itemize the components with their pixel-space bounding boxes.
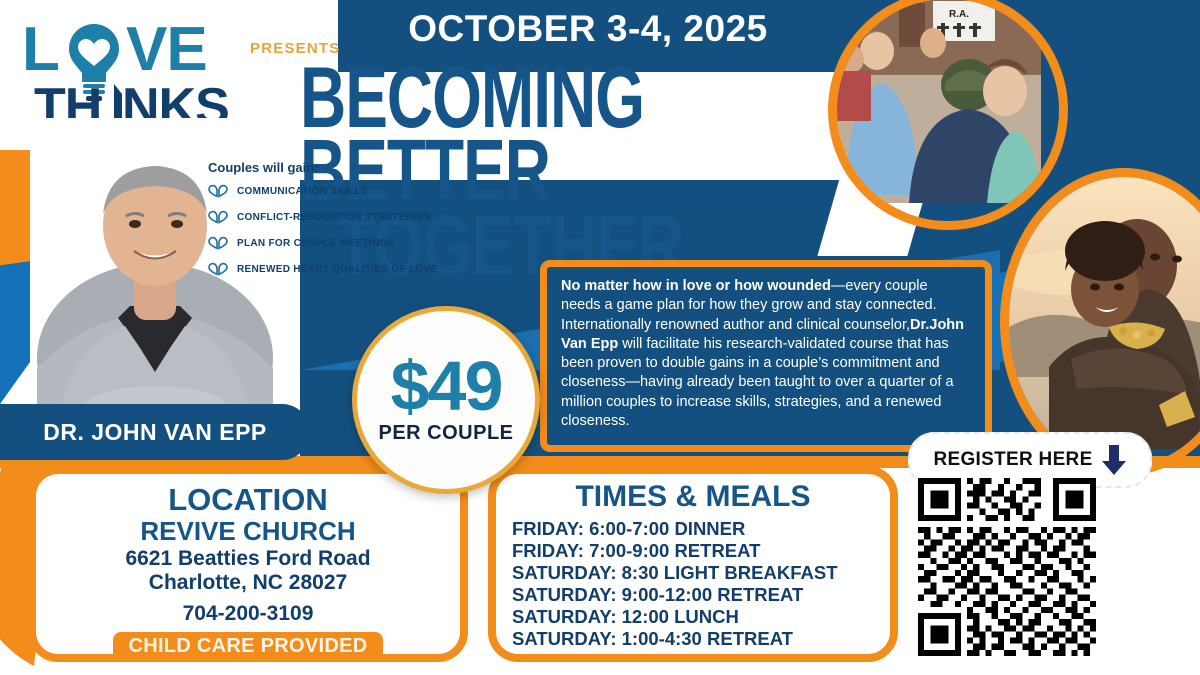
child-care-badge: CHILD CARE PROVIDED xyxy=(113,632,383,662)
price-unit: PER COUPLE xyxy=(378,422,513,445)
times-list-item: FRIDAY: 6:00-7:00 DINNER xyxy=(512,518,890,540)
times-heading: TIMES & MEALS xyxy=(496,480,890,514)
times-list: FRIDAY: 6:00-7:00 DINNER FRIDAY: 7:00-9:… xyxy=(512,518,890,650)
gains-item-label: COMMUNICATION SKILLS xyxy=(237,186,368,197)
location-card: LOCATION REVIVE CHURCH 6621 Beatties For… xyxy=(28,466,468,662)
svg-text:VE: VE xyxy=(126,15,207,84)
times-list-item: SATURDAY: 12:00 LUNCH xyxy=(512,606,890,628)
description-box: No matter how in love or how wounded—eve… xyxy=(540,260,992,452)
times-and-meals-card: TIMES & MEALS FRIDAY: 6:00-7:00 DINNER F… xyxy=(488,466,898,662)
double-heart-icon xyxy=(208,184,228,198)
workshop-photo: R.A. xyxy=(828,0,1068,230)
event-date: OCTOBER 3-4, 2025 xyxy=(338,8,838,50)
event-flyer: L VE TH NKS PRESENTS OCTOBER 3-4, 2025 B… xyxy=(0,0,1200,675)
gains-item: RENEWED HEART QUALITIES OF LOVE xyxy=(208,262,438,276)
gains-item: COMMUNICATION SKILLS xyxy=(208,184,438,198)
gains-heading: Couples will gain: xyxy=(208,160,438,175)
qr-code[interactable] xyxy=(918,478,1096,656)
description-text: No matter how in love or how wounded—eve… xyxy=(561,277,971,431)
gains-item: PLAN FOR COUPLE MEETINGS xyxy=(208,236,438,250)
location-street: 6621 Beatties Ford Road xyxy=(36,547,460,571)
svg-text:L: L xyxy=(22,15,59,84)
times-list-item: FRIDAY: 7:00-9:00 RETREAT xyxy=(512,540,890,562)
double-heart-icon xyxy=(208,262,228,276)
location-city-state-zip: Charlotte, NC 28027 xyxy=(36,571,460,595)
location-venue: REVIVE CHURCH xyxy=(36,516,460,547)
gains-item-label: CONFLICT-RESOLUTION STRATEGIES xyxy=(237,212,431,223)
gains-item-label: RENEWED HEART QUALITIES OF LOVE xyxy=(237,264,437,275)
love-thinks-logo: L VE TH NKS xyxy=(22,8,247,128)
svg-text:R.A.: R.A. xyxy=(949,9,969,20)
speaker-name-banner: DR. JOHN VAN EPP xyxy=(0,404,310,460)
price-badge: $49 PER COUPLE xyxy=(352,306,540,494)
double-heart-icon xyxy=(208,236,228,250)
double-heart-icon xyxy=(208,210,228,224)
description-bold-lead: No matter how in love or how wounded xyxy=(561,278,831,294)
location-heading: LOCATION xyxy=(36,482,460,518)
times-list-item: SATURDAY: 9:00-12:00 RETREAT xyxy=(512,584,890,606)
location-phone[interactable]: 704-200-3109 xyxy=(36,602,460,626)
times-list-item: SATURDAY: 8:30 LIGHT BREAKFAST xyxy=(512,562,890,584)
description-part-2: will facilitate his research-validated c… xyxy=(561,336,954,429)
register-label: REGISTER HERE xyxy=(933,449,1092,471)
price-amount: $49 xyxy=(391,355,502,418)
gains-item-label: PLAN FOR COUPLE MEETINGS xyxy=(237,238,395,249)
down-arrow-icon xyxy=(1101,445,1127,475)
gains-item: CONFLICT-RESOLUTION STRATEGIES xyxy=(208,210,438,224)
gains-list: Couples will gain: COMMUNICATION SKILLS … xyxy=(208,160,438,288)
times-list-item: SATURDAY: 1:00-4:30 RETREAT xyxy=(512,628,890,650)
